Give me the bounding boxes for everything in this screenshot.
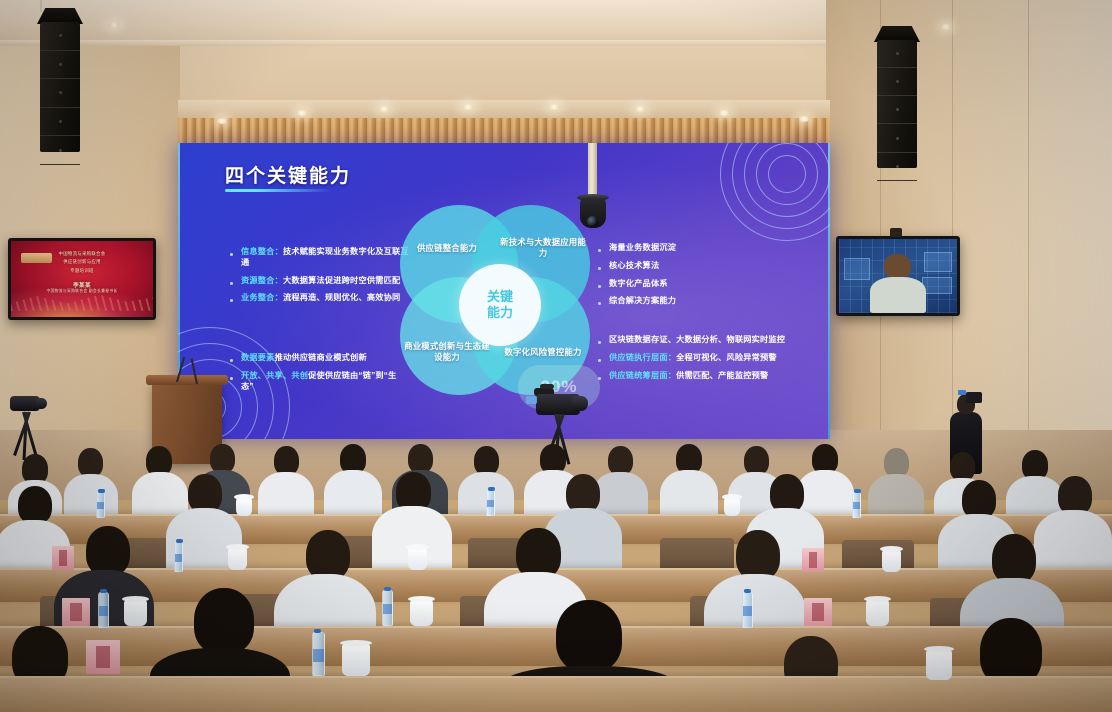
bullet-item: 资源整合：大数据算法促进跨时空供需匹配 [230,276,415,287]
water-bottle [382,590,393,626]
bullet-item: 开放、共享、共创促使供应链由“链”到“生态” [230,371,398,393]
venn-center-line1: 关键 [487,289,513,305]
banner-line-2: 供应链创新与应用 [11,259,153,265]
bullet-value: 海量业务数据沉淀 [609,243,676,252]
bullet-key: 业务整合： [241,293,283,302]
venn-circle-label: 数字化风险管控能力 [504,347,581,358]
attendee-head [306,530,350,580]
bullet-value: 区块链数据存证、大数据分析、物联网实时监控 [609,335,785,344]
video-panel [844,258,870,280]
bullet-value: 推动供应链商业模式创新 [275,353,367,362]
bullet-dot [230,299,233,302]
bullet-item: 供应链统筹层面：供需匹配、产能监控预警 [598,371,788,382]
podium-top [146,375,228,385]
bullet-key: 供应链统筹层面： [609,371,676,380]
water-bottle [486,490,495,516]
bullet-item: 海量业务数据沉淀 [598,243,778,254]
attendee-head [18,486,52,524]
water-bottle [742,592,753,628]
bullet-item: 核心技术算法 [598,261,778,272]
attendee-head [86,526,130,576]
camera-microphone [540,384,554,389]
venn-center: 关键 能力 [459,264,541,346]
downlight [940,24,952,30]
downlight [378,106,390,112]
tea-cup [228,548,247,570]
bullet-value: 供需匹配、产能监控预警 [676,371,768,380]
desk-row [0,676,1112,712]
tea-cup [342,644,370,676]
venn-circle-label: 新技术与大数据应用能力 [498,237,588,259]
bullet-item: 供应链执行层面：全程可视化、风险异常预警 [598,353,788,364]
venn-circle-label: 供应链整合能力 [417,243,477,254]
attendee-head [744,446,769,475]
camera-monitor [526,396,537,404]
audience-area [0,430,1112,712]
downlight [634,106,646,112]
bullet-key: 信息整合： [241,247,283,256]
water-bottle [312,632,325,676]
shoulder-camera [966,392,982,403]
left-bullets-top: 信息整合：技术赋能实现业务数字化及互联互通 资源整合：大数据算法促进跨时空供需匹… [230,247,415,311]
banner-line-3: 专题培训班 [11,268,153,274]
bullet-value: 综合解决方案能力 [609,296,676,305]
video-person-head [884,254,911,279]
downlight [216,118,228,124]
video-person-body [870,277,927,313]
name-placard [802,548,824,572]
bullet-value: 全程可视化、风险异常预警 [676,353,777,362]
water-bottle [174,542,183,572]
conference-hall-scene: 中国物流与采购联合会 供应链创新与应用 专题培训班 李某某 中国物流与采购联合会… [0,0,1112,712]
name-placard [86,640,120,674]
bullet-item: 数字化产品体系 [598,279,778,290]
line-array-speaker [877,40,917,168]
screen-edge-right [828,143,830,439]
tea-cup [410,600,433,626]
camera-lens-icon [572,396,588,411]
downlight [462,104,474,110]
bullet-value: 大数据算法促进跨时空供需匹配 [283,276,400,285]
bullet-item: 区块链数据存证、大数据分析、物联网实时监控 [598,335,788,346]
camera-lens-icon [36,398,47,409]
red-banner-screen: 中国物流与采购联合会 供应链创新与应用 专题培训班 李某某 中国物流与采购联合会… [11,241,153,317]
bullet-dot [230,359,233,362]
bullet-item: 综合解决方案能力 [598,296,778,307]
corner-arcs-top-right [710,143,830,257]
name-placard [804,598,832,626]
downlight [718,110,730,116]
attendee-head [736,530,780,580]
speaker-rigging [40,0,42,12]
right-bullets-top: 海量业务数据沉淀 核心技术算法 数字化产品体系 综合解决方案能力 [598,243,778,314]
tea-cup [866,600,889,626]
name-placard [52,546,74,570]
video-panel [922,277,953,293]
slide-title: 四个关键能力 [225,161,351,188]
venn-center-line2: 能力 [487,305,513,321]
banner-line-1: 中国物流与采购联合会 [11,251,153,257]
projection-screen: 四个关键能力 信息整合：技术赋能实现业务数字化及互联互通 资源整合：大数据算法促… [178,143,830,439]
venn-circle-label: 商业模式创新与生态建设能力 [402,341,492,363]
water-bottle [96,492,105,518]
video-panel [924,252,952,271]
bullet-dot [230,377,233,380]
bullet-key: 供应链执行层面： [609,353,676,362]
bullet-item: 数据要素推动供应链商业模式创新 [230,353,398,364]
attendee-head [274,446,299,475]
attendee-head [608,446,633,475]
light-flare [11,287,153,317]
camera-monitor [958,390,966,395]
title-underline [225,189,331,192]
attendee-head [950,452,975,481]
attendee-torso [1034,510,1112,576]
tea-cup [236,498,252,516]
attendee-head [992,534,1036,584]
camera-lens-icon [587,216,598,227]
bullet-value: 数字化产品体系 [609,279,668,288]
tea-cup [724,498,740,516]
bullet-key: 数据要素 [241,353,275,362]
line-array-speaker [40,22,80,152]
bullet-key: 资源整合： [241,276,283,285]
attendee-head [884,448,909,477]
attendee-head [194,588,254,654]
right-bullets-bottom: 区块链数据存证、大数据分析、物联网实时监控 供应链执行层面：全程可视化、风险异常… [598,335,788,388]
tea-cup [882,550,901,572]
wall-seam [1028,0,1029,470]
bullet-value: 核心技术算法 [609,261,659,270]
bullet-item: 信息整合：技术赋能实现业务数字化及互联互通 [230,247,415,269]
name-placard [62,598,90,626]
water-bottle [852,492,861,518]
bullet-item: 业务整合：流程再造、规则优化、高效协同 [230,293,415,304]
right-wall-display [836,236,960,316]
left-wall-display: 中国物流与采购联合会 供应链创新与应用 专题培训班 李某某 中国物流与采购联合会… [8,238,156,320]
downlight [108,22,120,28]
speaker-video-screen [839,239,957,313]
tea-cup [408,548,427,570]
downlight [798,116,810,122]
downlight [296,110,308,116]
attendee-head [556,600,622,672]
downlight [548,104,560,110]
bullet-dot [230,282,233,285]
attendee-head [474,446,499,475]
tea-cup [124,600,147,626]
water-bottle [98,592,109,628]
attendee-head [78,448,103,477]
tv-mount-bracket [890,228,902,237]
bullet-key: 开放、共享、共创 [241,371,308,380]
bullet-value: 流程再造、规则优化、高效协同 [283,293,400,302]
attendee-head [210,444,235,473]
left-bullets-bottom: 数据要素推动供应链商业模式创新 开放、共享、共创促使供应链由“链”到“生态” [230,353,398,399]
tea-cup [926,650,952,680]
bullet-dot [230,253,233,256]
camera-drop-pole [588,143,597,197]
attendee-head [408,444,433,473]
